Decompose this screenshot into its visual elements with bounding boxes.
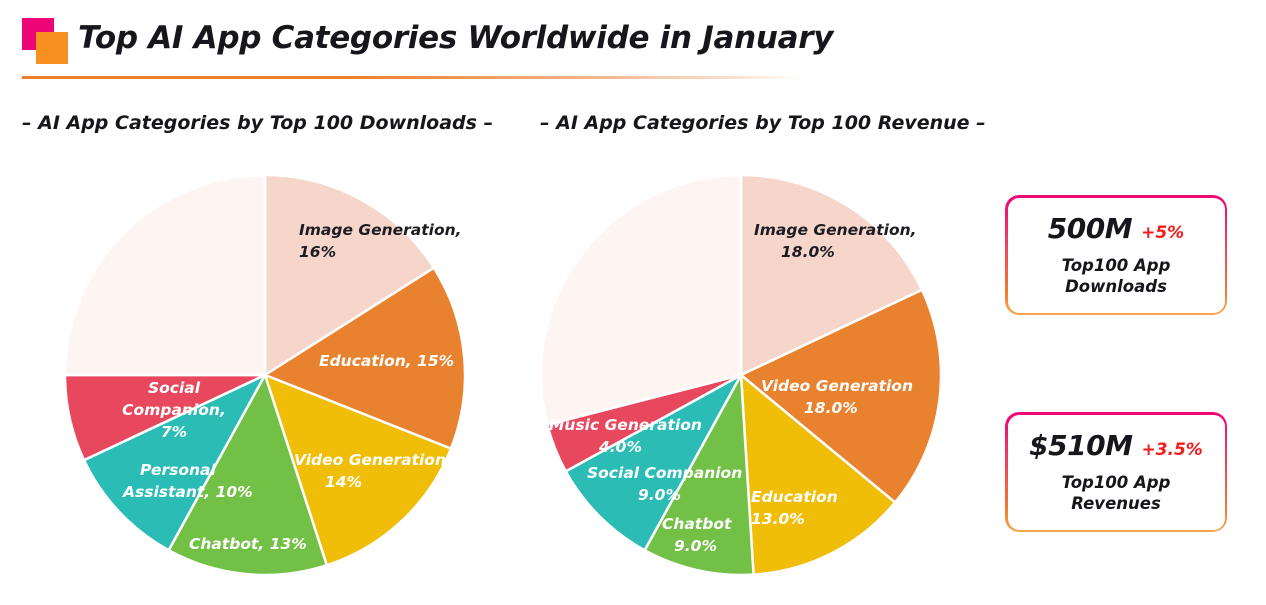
stat-card-revenue-value: $510M [1029, 429, 1132, 462]
stat-card-revenue-caption: Top100 App Revenues [1015, 472, 1217, 514]
label-personal-assistant-line2: Assistant, 10% [122, 483, 253, 501]
stat-card-revenue-caption-line1: Top100 App [1015, 472, 1217, 493]
label-education-line1: Education [751, 488, 838, 506]
downloads-pie-svg: Image Generation, 16% Education, 15% Vid… [63, 173, 467, 577]
page-header: Top AI App Categories Worldwide in Janua… [0, 0, 1266, 92]
label-image-generation-line2: 16% [299, 243, 336, 261]
stat-card-downloads-top: 500M +5% [1005, 212, 1227, 245]
label-music-generation-line2: 4.0% [598, 438, 642, 456]
label-social-companion-line2: 9.0% [638, 486, 681, 504]
label-personal-assistant-line1: Personal [140, 461, 216, 479]
label-video-generation-line2: 18.0% [804, 399, 858, 417]
stat-card-downloads[interactable]: 500M +5% Top100 App Downloads [1005, 195, 1227, 315]
label-social-companion-line2: Companion, [122, 401, 226, 419]
label-education-line2: 13.0% [751, 510, 805, 528]
revenue-pie-svg: Image Generation, 18.0% Video Generation… [539, 173, 943, 577]
label-music-generation-line1: Music Generation [549, 416, 702, 434]
stat-card-revenue-delta: +3.5% [1141, 440, 1202, 460]
title-underline-rule [22, 76, 802, 79]
stat-card-downloads-caption-line1: Top100 App [1015, 255, 1217, 276]
label-video-generation-line1: Video Generation [761, 377, 913, 395]
stat-card-revenue-top: $510M +3.5% [1005, 429, 1227, 462]
stat-card-downloads-value: 500M [1048, 212, 1132, 245]
downloads-pie-chart: Image Generation, 16% Education, 15% Vid… [63, 173, 467, 577]
downloads-section-caption: – AI App Categories by Top 100 Downloads… [22, 112, 493, 134]
label-chatbot-line1: Chatbot, 13% [189, 535, 307, 553]
stat-card-downloads-delta: +5% [1141, 223, 1184, 243]
label-chatbot-line2: 9.0% [674, 537, 717, 555]
page-title: Top AI App Categories Worldwide in Janua… [78, 20, 833, 56]
label-social-companion-line1: Social Companion [587, 464, 742, 482]
revenue-pie-chart: Image Generation, 18.0% Video Generation… [539, 173, 943, 577]
label-chatbot-line1: Chatbot [662, 515, 732, 533]
revenue-section-caption: – AI App Categories by Top 100 Revenue – [540, 112, 986, 134]
label-social-companion-line1: Social [148, 379, 201, 397]
label-image-generation-line1: Image Generation, [754, 221, 917, 239]
label-social-companion-line3: 7% [161, 423, 187, 441]
stat-card-downloads-caption: Top100 App Downloads [1015, 255, 1217, 297]
label-image-generation-line1: Image Generation, [299, 221, 462, 239]
brand-logo-icon [22, 18, 70, 66]
label-video-generation-line2: 14% [325, 473, 362, 491]
stat-card-downloads-caption-line2: Downloads [1015, 276, 1217, 297]
label-video-generation-line1: Video Generation, [294, 451, 452, 469]
label-education-line1: Education, 15% [319, 352, 454, 370]
stat-card-revenue[interactable]: $510M +3.5% Top100 App Revenues [1005, 412, 1227, 532]
label-image-generation-line2: 18.0% [781, 243, 835, 261]
logo-orange-square [36, 32, 68, 64]
slice-other[interactable] [65, 175, 265, 375]
stat-card-revenue-caption-line2: Revenues [1015, 493, 1217, 514]
